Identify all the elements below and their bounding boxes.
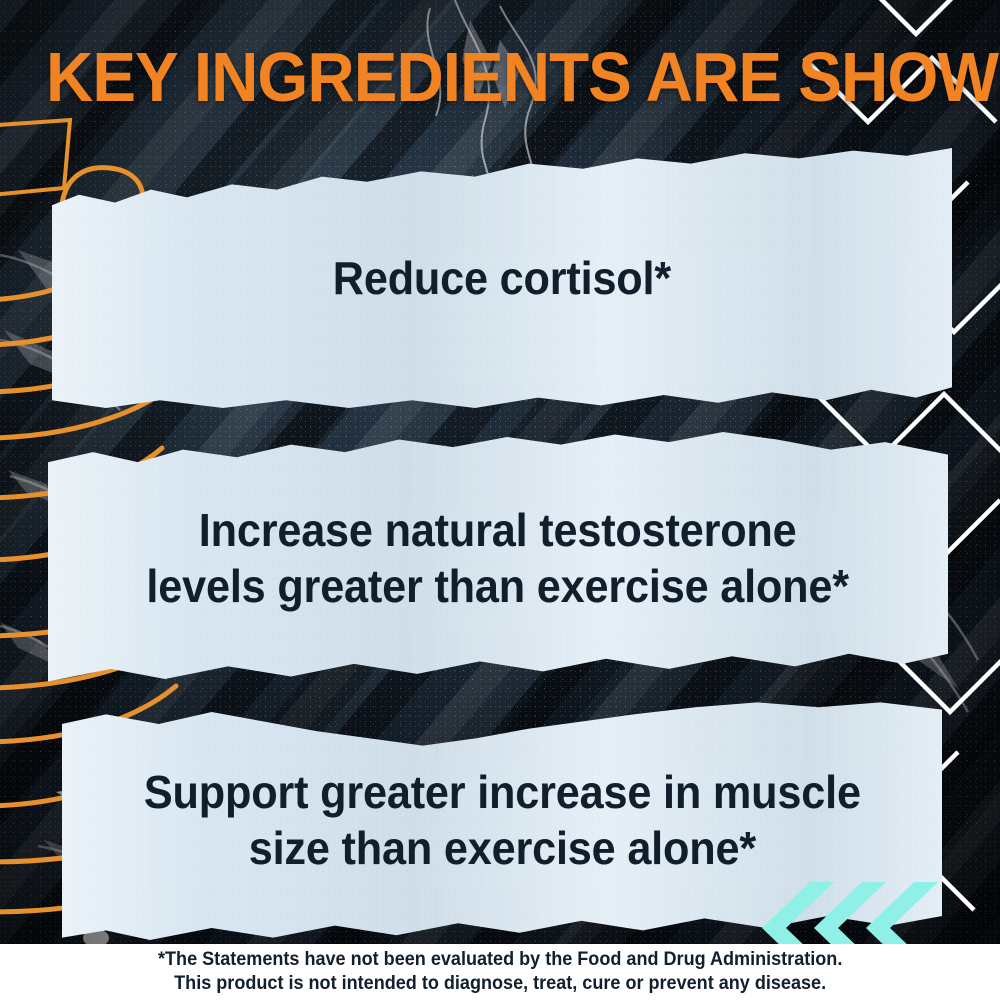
headline-title: KEY INGREDIENTS ARE SHOWN TO xyxy=(46,42,906,112)
benefit-text-1: Reduce cortisol* xyxy=(333,251,671,305)
benefit-line: size than exercise alone* xyxy=(144,820,861,876)
benefit-line: Reduce cortisol* xyxy=(333,251,671,305)
benefit-strip-increase-testosterone: Increase natural testosterone levels gre… xyxy=(48,432,948,684)
disclaimer-line-2: This product is not intended to diagnose… xyxy=(174,972,826,996)
disclaimer-line-1: *The Statements have not been evaluated … xyxy=(158,948,842,972)
benefit-line: Increase natural testosterone xyxy=(147,502,849,558)
benefit-text-2: Increase natural testosterone levels gre… xyxy=(147,502,849,614)
benefit-text-3: Support greater increase in muscle size … xyxy=(144,764,861,876)
benefit-line: Support greater increase in muscle xyxy=(144,764,861,820)
disclaimer-footer: *The Statements have not been evaluated … xyxy=(0,944,1000,1000)
benefit-line: levels greater than exercise alone* xyxy=(147,558,849,614)
poster-canvas: KEY INGREDIENTS ARE SHOWN TO Reduce cort… xyxy=(0,0,1000,1000)
